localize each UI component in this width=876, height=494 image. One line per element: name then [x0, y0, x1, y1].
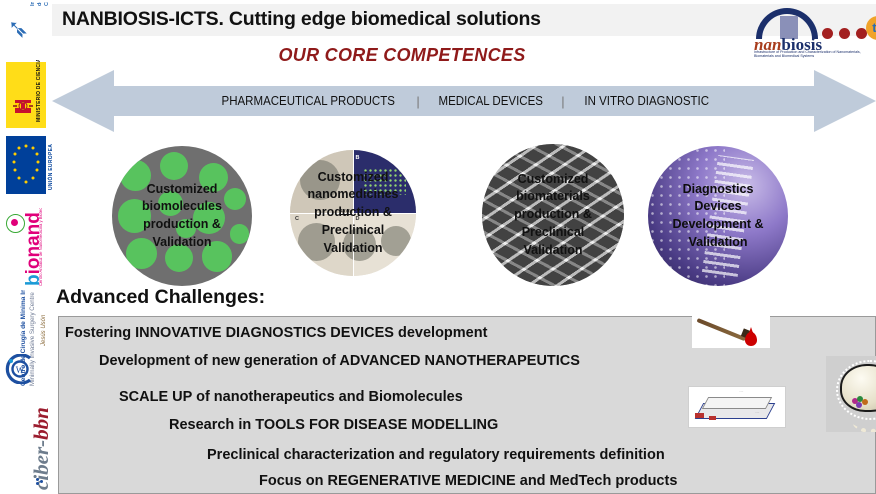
competence-separator-1: | — [402, 94, 433, 109]
tem-panel-label-c: C — [295, 216, 299, 222]
ts-badge-icon: ts — [866, 16, 876, 40]
ministerio-label: MINISTERIO DE CIENCIA E INNOVACIÓN — [36, 60, 42, 122]
competences-labels: PHARMACEUTICAL PRODUCTS | MEDICAL DEVICE… — [52, 68, 876, 134]
svg-text:W: W — [16, 365, 25, 375]
chip-pad-2 — [709, 416, 716, 420]
competence-label-in-vitro-diagnostic: IN VITRO DIAGNOSTIC — [584, 94, 709, 108]
eu-stars-icon — [6, 136, 46, 194]
union-europea-eu-flag-logo: UNIÓN EUROPEA — [0, 130, 52, 208]
instituto-de-salud-carlos-iii-logo: ➶ Instituto de Salud Carlos III — [0, 2, 52, 58]
competence-circle-biomolecules: Customized biomolecules production & Val… — [112, 146, 252, 286]
competence-circle-1-label: Customized biomolecules production & Val… — [138, 181, 226, 252]
chip-annotation-1: ····· — [739, 390, 743, 393]
bbn-word: bbn — [29, 407, 52, 440]
ts-badge-glyph: ts — [866, 16, 876, 40]
isciii-label-3: Carlos III — [44, 2, 52, 6]
competence-circle-nanomedicines: B C D 1 nm Customized nanomedicines prod… — [290, 150, 416, 276]
challenge-item-5: Preclinical characterization and regulat… — [59, 447, 876, 463]
blood-drop-icon — [745, 332, 757, 346]
challenge-item-2: Development of new generation of ADVANCE… — [59, 353, 876, 369]
bionand-logo: bionand Centro Andaluz de Nanomedicina y… — [0, 208, 52, 290]
slide-content: NANBIOSIS-ICTS. Cutting edge biomedical … — [52, 0, 876, 494]
bionand-subtitle: Centro Andaluz de Nanomedicina y Biotecn… — [38, 208, 43, 286]
slide-canvas: ➶ Instituto de Salud Carlos III MINISTER… — [0, 0, 876, 494]
competence-circle-biomaterials: Customized biomaterials production & Pre… — [482, 144, 624, 286]
page-title: NANBIOSIS-ICTS. Cutting edge biomedical … — [62, 8, 541, 31]
three-dots-icon — [822, 28, 868, 40]
ccmiju-line-3: Jesús Usón — [40, 315, 48, 346]
competence-circle-3-label: Customized biomaterials production & Pre… — [510, 171, 596, 260]
challenge-item-6: Focus on REGENERATIVE MEDICINE and MedTe… — [59, 473, 876, 489]
ministerio-de-ciencia-e-innovacion-logo: MINISTERIO DE CIENCIA E INNOVACIÓN — [0, 60, 52, 130]
competences-arrow-band: PHARMACEUTICAL PRODUCTS | MEDICAL DEVICE… — [52, 68, 876, 134]
chip-annotation-2: ····· — [755, 411, 759, 414]
chip-top-layer — [702, 397, 772, 409]
slide-subtitle: OUR CORE COMPETENCES — [52, 45, 752, 66]
ciber-dots-icon — [36, 478, 46, 486]
chip-pad-1 — [695, 413, 704, 418]
advanced-challenges-heading: Advanced Challenges: — [56, 286, 265, 309]
competence-circle-2-label: Customized nanomedicines production & Pr… — [304, 169, 403, 258]
competence-circle-diagnostics: Diagnostics Devices Development & Valida… — [648, 146, 788, 286]
tem-panel-label-b: B — [356, 155, 360, 161]
sponsor-logo-rail: ➶ Instituto de Salud Carlos III MINISTER… — [0, 0, 52, 494]
competence-circle-4-label: Diagnostics Devices Development & Valida… — [669, 181, 768, 252]
lancet-needle-icon — [697, 318, 747, 341]
lab-on-a-chip-diagram: ····· ····· — [688, 386, 786, 428]
ciber-bbn-logo: ciber-bbn — [0, 394, 52, 494]
blood-drop-lancet-photo — [692, 314, 770, 348]
competence-separator-2: | — [547, 94, 578, 109]
functionalized-nanoparticle-render — [826, 356, 876, 432]
nanbiosis-logo: nanbiosis Infrastructure of Production a… — [750, 2, 876, 56]
spain-coat-of-arms-icon — [10, 94, 36, 120]
nanbiosis-tagline: Infrastructure of Production and Charact… — [754, 50, 872, 58]
competence-label-medical-devices: MEDICAL DEVICES — [438, 94, 542, 108]
competence-label-pharmaceutical: PHARMACEUTICAL PRODUCTS — [221, 94, 394, 108]
carlos-iii-swirl-icon: ➶ — [0, 18, 34, 40]
ccmiju-logo: Centro de Cirugía de Mínima Invasión Min… — [0, 290, 52, 394]
competence-circles: Customized biomolecules production & Val… — [52, 140, 876, 288]
nanoparticle-ligand-cluster-icon — [852, 396, 870, 408]
ccmiju-emblem-icon: W — [3, 354, 33, 384]
